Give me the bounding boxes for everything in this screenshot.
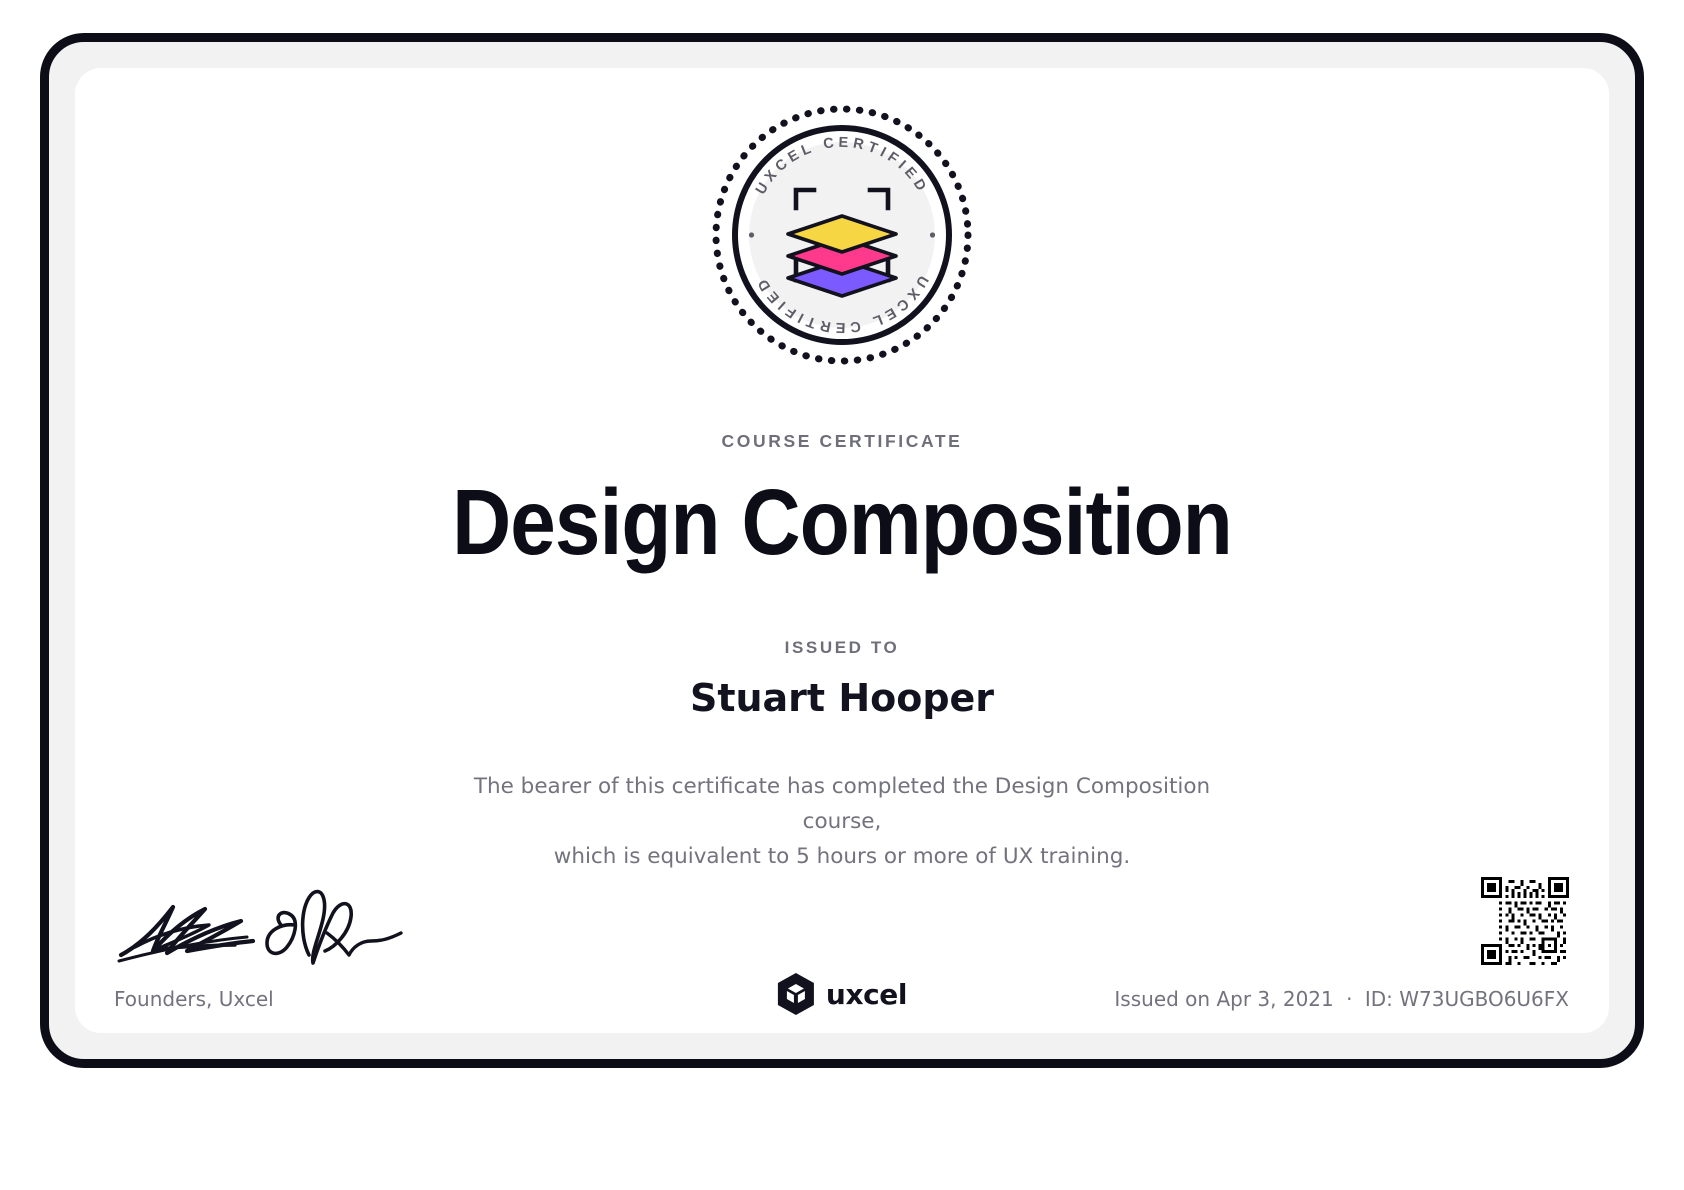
certificate-qr-code[interactable] <box>1481 877 1569 965</box>
issued-metadata: Issued on Apr 3, 2021 · ID: W73UGBO6U6FX <box>1114 987 1569 1011</box>
recipient-name: Stuart Hooper <box>75 676 1609 720</box>
uxcel-hexagon-icon <box>777 973 815 1015</box>
uxcel-wordmark: uxcel <box>826 978 907 1011</box>
meta-separator: · <box>1340 987 1358 1011</box>
issued-date: Issued on Apr 3, 2021 <box>1114 987 1333 1011</box>
course-title: Design Composition <box>167 472 1517 572</box>
certificate-card: UXCEL CERTIFIED UXCEL CERTIFIED <box>75 68 1609 1033</box>
issued-to-label: ISSUED TO <box>75 638 1609 658</box>
certificate-frame: UXCEL CERTIFIED UXCEL CERTIFIED <box>40 33 1644 1068</box>
founder-signatures <box>113 885 413 971</box>
uxcel-logo: uxcel <box>777 973 907 1015</box>
badge-seal-icon: UXCEL CERTIFIED UXCEL CERTIFIED <box>708 101 976 369</box>
description-line-1: The bearer of this certificate has compl… <box>432 770 1252 840</box>
certificate-id: ID: W73UGBO6U6FX <box>1365 987 1569 1011</box>
certification-badge: UXCEL CERTIFIED UXCEL CERTIFIED <box>708 101 976 369</box>
signature-icon <box>113 885 413 971</box>
qr-code-icon <box>1481 877 1569 965</box>
certificate-footer: Founders, Uxcel uxcel <box>75 843 1609 1033</box>
founders-caption: Founders, Uxcel <box>114 987 274 1011</box>
course-certificate-label: COURSE CERTIFICATE <box>75 431 1609 452</box>
